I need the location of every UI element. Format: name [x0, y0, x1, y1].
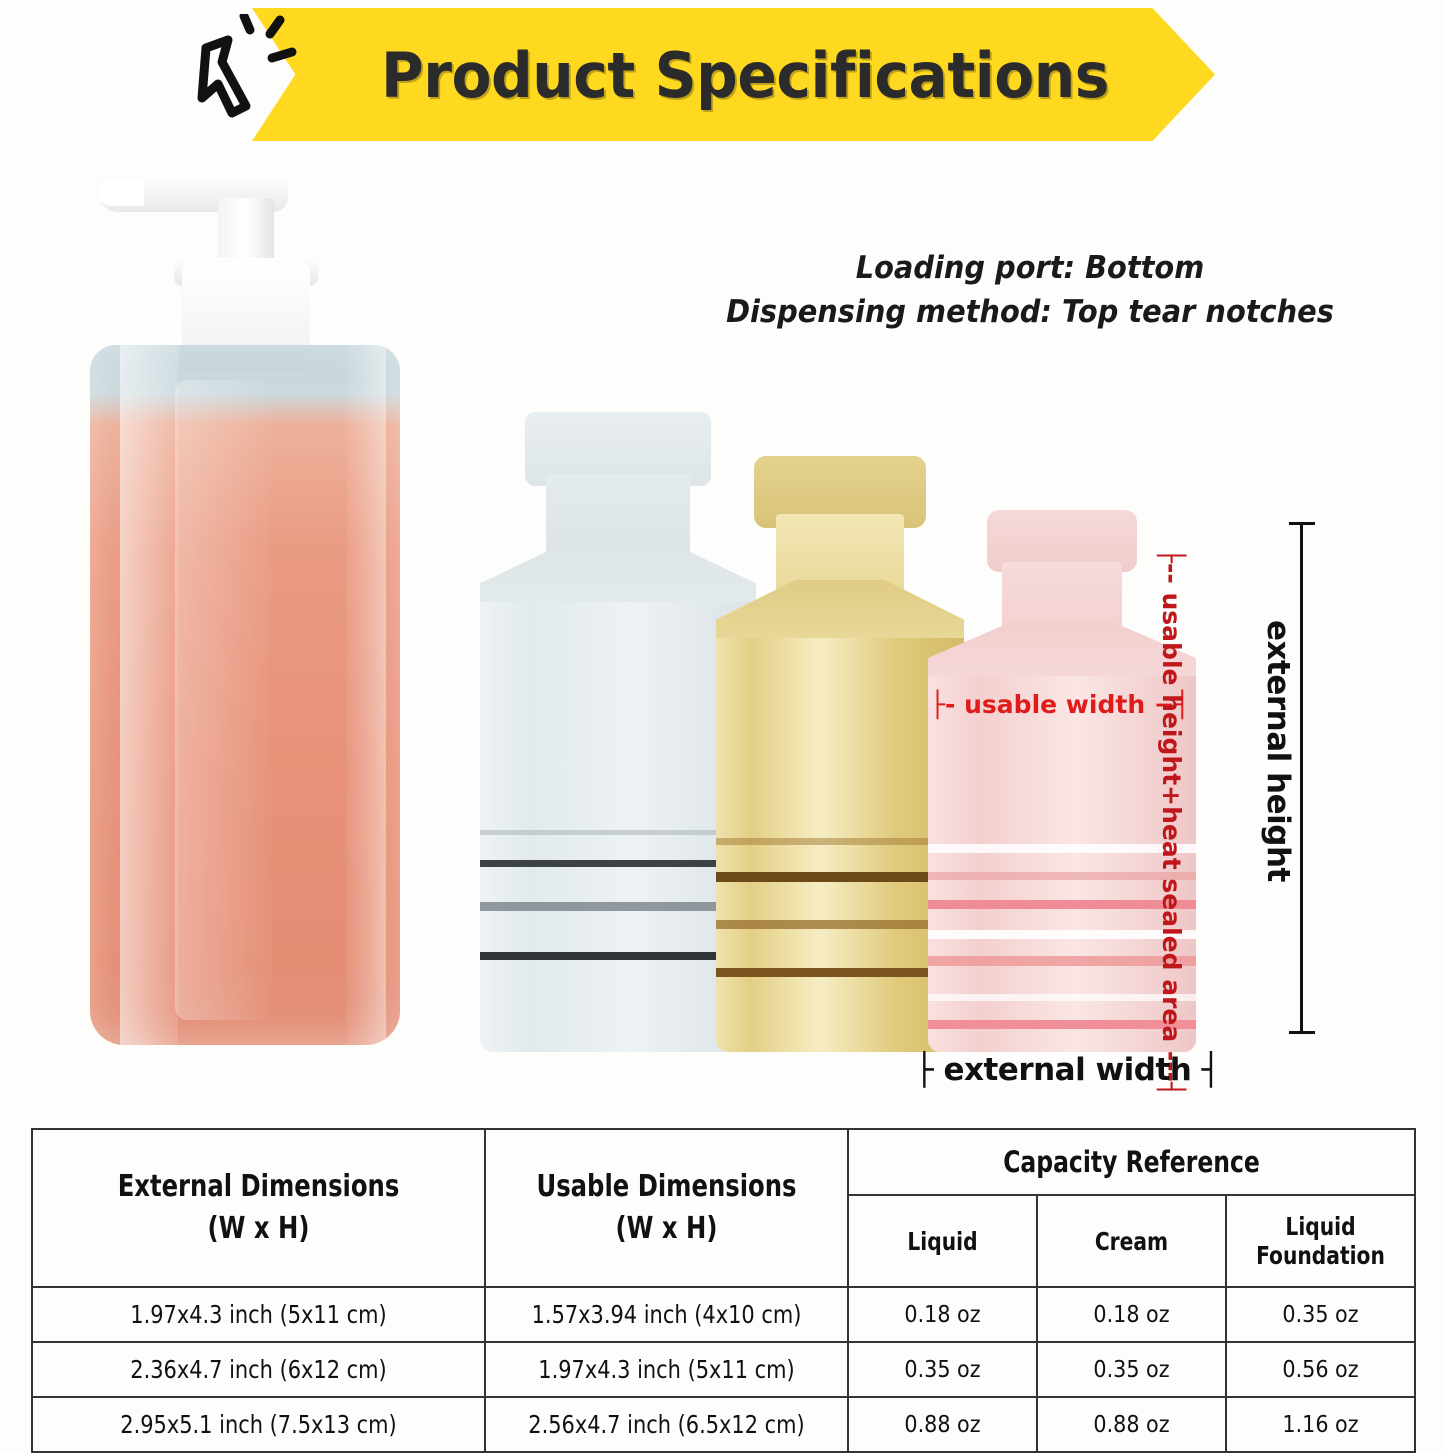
usable-width-label: ├- usable width −┤: [930, 690, 1190, 719]
cell-liquid-0: 0.18 oz: [848, 1287, 1037, 1342]
white-sachet-body: [480, 602, 756, 1052]
cell-foundation-1: 0.56 oz: [1226, 1342, 1415, 1397]
bottle-gloss-highlight: [175, 380, 271, 1020]
table-row: 1.97x4.3 inch (5x11 cm) 1.57x3.94 inch (…: [32, 1287, 1415, 1342]
white-sachet-image: [480, 412, 756, 1052]
cell-usable-0: 1.57x3.94 inch (4x10 cm): [498, 1287, 836, 1342]
cell-liquid-2: 0.88 oz: [848, 1397, 1037, 1452]
page-title: Product Specifications: [355, 20, 1135, 130]
cell-external-2: 2.95x5.1 inch (7.5x13 cm): [48, 1397, 469, 1452]
loading-port-note: Loading port: Bottom: [723, 246, 1337, 290]
cell-foundation-0: 0.35 oz: [1226, 1287, 1415, 1342]
cell-usable-1: 1.97x4.3 inch (5x11 cm): [498, 1342, 836, 1397]
external-height-line: [1300, 524, 1303, 1034]
table-row: 2.95x5.1 inch (7.5x13 cm) 2.56x4.7 inch …: [32, 1397, 1415, 1452]
pink-sachet-shoulder: [928, 622, 1196, 684]
cell-foundation-2: 1.16 oz: [1226, 1397, 1415, 1452]
table-header-row-1: External Dimensions (W x H) Usable Dimen…: [32, 1129, 1415, 1195]
specifications-table: External Dimensions (W x H) Usable Dimen…: [31, 1128, 1416, 1453]
cell-cream-1: 0.35 oz: [1037, 1342, 1226, 1397]
cell-cream-2: 0.88 oz: [1037, 1397, 1226, 1452]
header-usable-dimensions: Usable Dimensions (W x H): [503, 1129, 830, 1287]
table-row: 2.36x4.7 inch (6x12 cm) 1.97x4.3 inch (5…: [32, 1342, 1415, 1397]
cell-external-0: 1.97x4.3 inch (5x11 cm): [48, 1287, 469, 1342]
dispensing-method-note: Dispensing method: Top tear notches: [723, 290, 1337, 334]
pink-sachet-image: [928, 510, 1196, 1052]
product-spec-page: Product Specifications Loading port: Bot…: [0, 0, 1445, 1438]
external-width-label: ├ external width ┤: [915, 1052, 1220, 1088]
header-banner: Product Specifications: [0, 0, 1445, 150]
gold-sachet-shoulder: [716, 580, 964, 646]
external-height-label: external height: [1260, 620, 1296, 882]
product-notes: Loading port: Bottom Dispensing method: …: [723, 246, 1337, 334]
cell-usable-2: 2.56x4.7 inch (6.5x12 cm): [498, 1397, 836, 1452]
cursor-click-icon: [188, 14, 308, 129]
pump-bottle-image: [70, 150, 420, 1055]
cell-external-1: 2.36x4.7 inch (6x12 cm): [48, 1342, 469, 1397]
usable-height-label: ├-- usable height+heat sealed area ---┤: [1157, 548, 1186, 1048]
white-sachet-shoulder: [480, 540, 756, 610]
gold-sachet-image: [716, 456, 964, 1052]
header-capacity-reference: Capacity Reference: [876, 1129, 1386, 1195]
header-liquid: Liquid: [857, 1195, 1027, 1287]
pink-sachet-body: [928, 676, 1196, 1052]
header-liquid-foundation: Liquid Foundation: [1235, 1195, 1405, 1287]
header-cream: Cream: [1046, 1195, 1216, 1287]
cell-cream-0: 0.18 oz: [1037, 1287, 1226, 1342]
header-external-dimensions: External Dimensions (W x H): [55, 1129, 463, 1287]
gold-sachet-body: [716, 638, 964, 1052]
external-height-bottom-cap: [1289, 1031, 1315, 1034]
cell-liquid-1: 0.35 oz: [848, 1342, 1037, 1397]
